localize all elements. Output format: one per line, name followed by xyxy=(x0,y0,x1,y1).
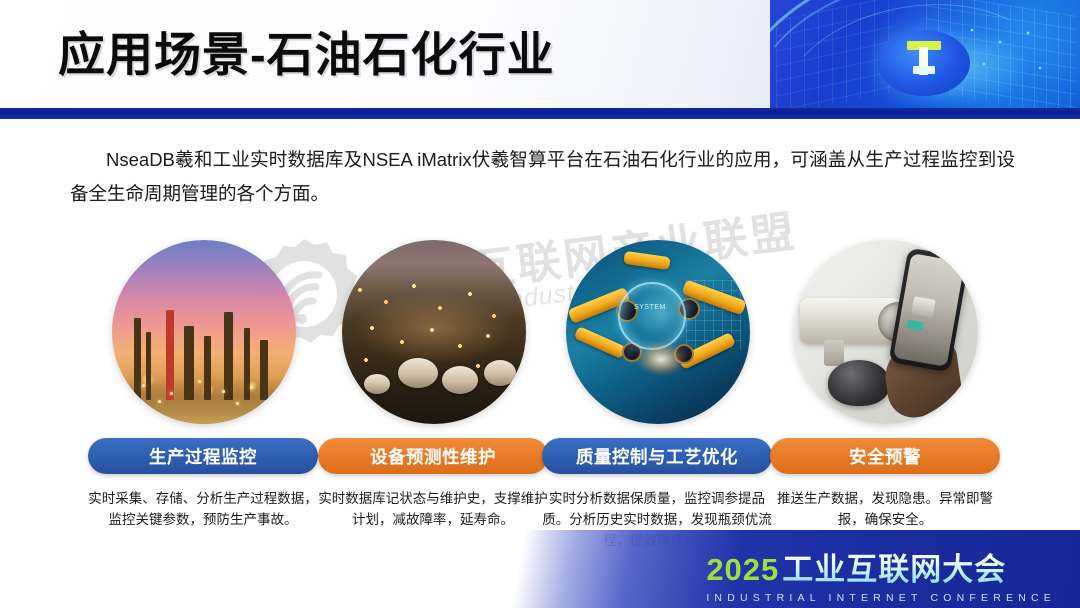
slide-footer: 2025 工业互联网大会 INDUSTRIAL INTERNET CONFERE… xyxy=(0,530,1080,608)
conference-year: 2025 xyxy=(706,552,779,588)
card-pill-label[interactable]: 质量控制与工艺优化 xyxy=(542,438,772,474)
slide: 应用场景-石油石化行业 工业互联网产业联盟 ...nce of Industri… xyxy=(0,0,1080,608)
tech-globe-graphic xyxy=(770,0,1080,108)
card-predictive-maintenance[interactable]: 设备预测性维护 实时数据库记状态与维护史，支撑维护计划，减故障率，延寿命。 xyxy=(318,240,548,530)
header-divider xyxy=(0,108,1080,119)
card-safety-warning[interactable]: 安全预警 推送生产数据，发现隐患。异常即警报，确保安全。 xyxy=(770,240,1000,530)
card-description: 实时数据库记状态与维护史，支撑维护计划，减故障率，延寿命。 xyxy=(314,488,552,530)
conference-title-cn: 工业互联网大会 xyxy=(782,544,1006,589)
card-description: 实时采集、存储、分析生产过程数据，监控关键参数，预防生产事故。 xyxy=(84,488,322,530)
card-pill-label[interactable]: 设备预测性维护 xyxy=(318,438,548,474)
intro-paragraph: NseaDB羲和工业实时数据库及NSEA iMatrix伏羲智算平台在石油石化行… xyxy=(70,143,1015,211)
card-pill-label[interactable]: 安全预警 xyxy=(770,438,1000,474)
card-quality-control[interactable]: SYSTEM 质量控制与工艺优化 实时分析数据保质量，监控调参提品质。分析历史实… xyxy=(542,240,772,530)
card-production-monitoring[interactable]: 生产过程监控 实时采集、存储、分析生产过程数据，监控关键参数，预防生产事故。 xyxy=(88,240,318,530)
t-logo-icon xyxy=(907,41,943,75)
refinery-aerial-night-photo xyxy=(342,240,526,424)
slide-header: 应用场景-石油石化行业 xyxy=(0,0,1080,108)
particle-dots-icon xyxy=(962,24,1058,84)
security-camera-phone-photo xyxy=(794,240,978,424)
hud-ring-label: SYSTEM xyxy=(618,304,682,311)
page-title: 应用场景-石油石化行业 xyxy=(58,16,555,85)
card-row: 生产过程监控 实时采集、存储、分析生产过程数据，监控关键参数，预防生产事故。 设… xyxy=(60,240,1020,530)
refinery-sunset-photo xyxy=(112,240,296,424)
card-description: 推送生产数据，发现隐患。异常即警报，确保安全。 xyxy=(766,488,1004,530)
conference-logo: 2025 工业互联网大会 INDUSTRIAL INTERNET CONFERE… xyxy=(706,544,1056,604)
conference-title-en: INDUSTRIAL INTERNET CONFERENCE xyxy=(706,592,1056,604)
robotic-arms-tech-photo: SYSTEM xyxy=(566,240,750,424)
card-pill-label[interactable]: 生产过程监控 xyxy=(88,438,318,474)
